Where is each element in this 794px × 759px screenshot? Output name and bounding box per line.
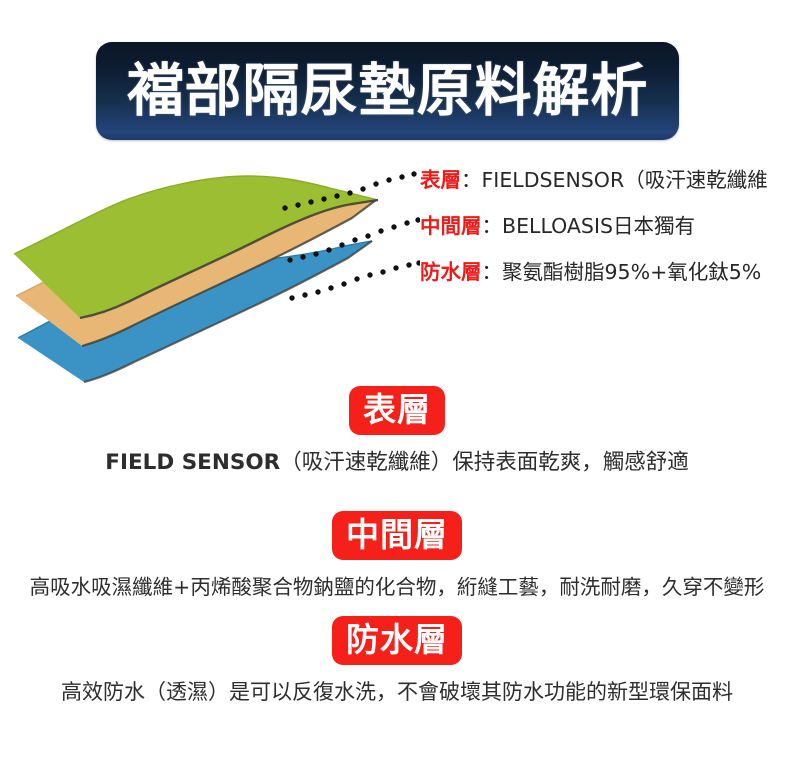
section-waterproof-text: 高效防水（透濕）是可以反復水洗，不會破壞其防水功能的新型環保面料: [61, 680, 733, 704]
badge-middle: 中間層: [332, 511, 462, 560]
callout-middle-separator: ：: [482, 214, 503, 238]
callout-waterproof-label: 防水層: [420, 260, 482, 284]
section-waterproof-description: 高效防水（透濕）是可以反復水洗，不會破壞其防水功能的新型環保面料: [0, 682, 794, 703]
section-surface-latin: FIELD SENSOR: [105, 450, 280, 475]
section-middle-description: 高吸水吸濕纖維+丙烯酸聚合物鈉鹽的化合物，絎縫工藝，耐洗耐磨，久穿不變形: [0, 577, 794, 598]
badge-wrap-waterproof: 防水層: [0, 616, 794, 665]
section-surface: 表層 FIELD SENSOR（吸汗速乾纖維）保持表面乾爽，觸感舒適: [0, 386, 794, 474]
badge-waterproof: 防水層: [332, 616, 462, 665]
section-middle-text: 高吸水吸濕纖維+丙烯酸聚合物鈉鹽的化合物，絎縫工藝，耐洗耐磨，久穿不變形: [30, 575, 765, 599]
page-title-banner: 襠部隔尿墊原料解析: [96, 42, 679, 140]
page-title: 襠部隔尿墊原料解析: [127, 63, 649, 120]
callout-surface-separator: ：: [461, 168, 482, 192]
callout-surface-desc: FIELDSENSOR（吸汗速乾纖維: [482, 168, 768, 192]
callout-waterproof: 防水層：聚氨酯樹脂95%+氧化鈦5%: [420, 262, 761, 283]
section-surface-description: FIELD SENSOR（吸汗速乾纖維）保持表面乾爽，觸感舒適: [0, 452, 794, 474]
badge-wrap-middle: 中間層: [0, 511, 794, 560]
badge-wrap-surface: 表層: [0, 386, 794, 435]
callout-middle-label: 中間層: [420, 214, 482, 238]
callout-waterproof-desc: 聚氨酯樹脂95%+氧化鈦5%: [502, 260, 761, 284]
callout-surface-label: 表層: [420, 168, 461, 192]
section-surface-text: （吸汗速乾纖維）保持表面乾爽，觸感舒適: [280, 450, 689, 475]
section-waterproof: 防水層 高效防水（透濕）是可以反復水洗，不會破壞其防水功能的新型環保面料: [0, 616, 794, 703]
callout-middle-desc: BELLOASIS日本獨有: [502, 214, 695, 238]
callout-surface: 表層：FIELDSENSOR（吸汗速乾纖維: [420, 170, 768, 191]
section-middle: 中間層 高吸水吸濕纖維+丙烯酸聚合物鈉鹽的化合物，絎縫工藝，耐洗耐磨，久穿不變形: [0, 511, 794, 598]
three-layer-fabric-diagram: [0, 148, 420, 383]
badge-surface: 表層: [349, 386, 445, 435]
callout-middle: 中間層：BELLOASIS日本獨有: [420, 216, 695, 237]
callout-waterproof-separator: ：: [482, 260, 503, 284]
